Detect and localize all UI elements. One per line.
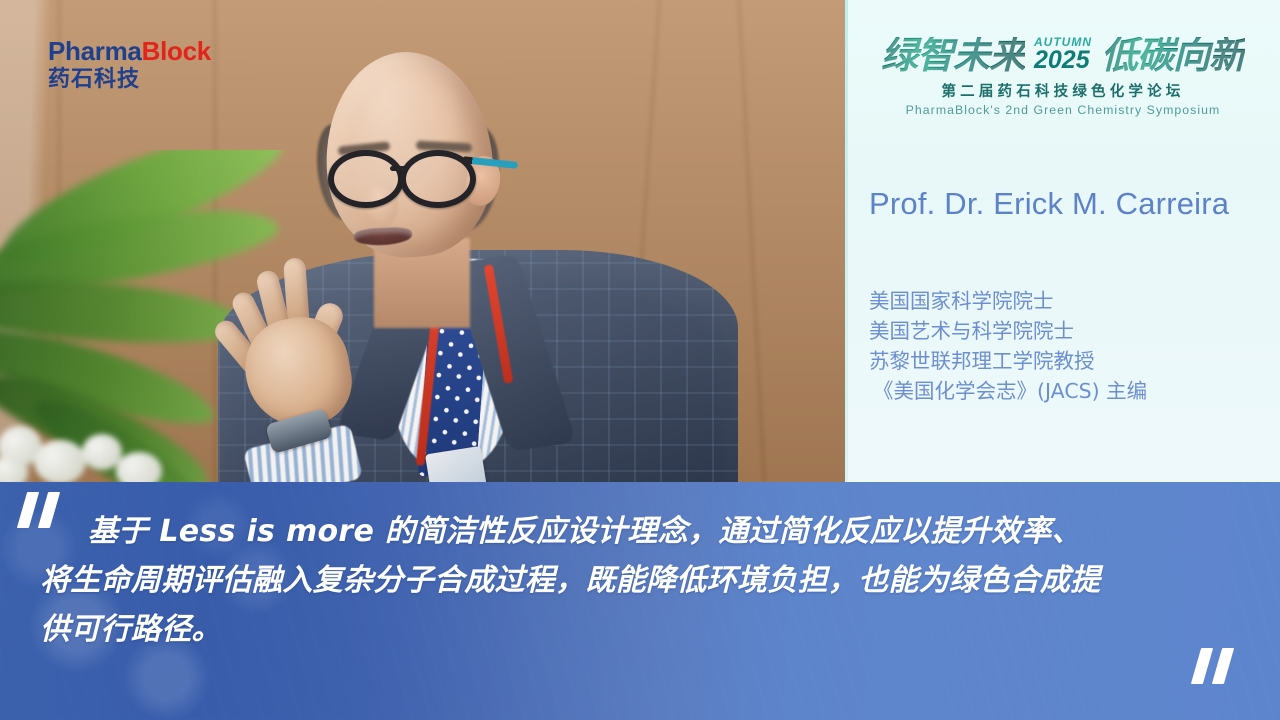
pharmablock-logo: PharmaBlock 药石科技	[48, 38, 211, 91]
quote-line: 基于 Less is more 的简洁性反应设计理念，通过简化反应以提升效率、	[88, 508, 1228, 557]
glasses-bridge	[390, 166, 406, 171]
quote-text: 基于 Less is more 的简洁性反应设计理念，通过简化反应以提升效率、 …	[88, 508, 1228, 655]
logo-text-pharma: Pharma	[48, 36, 142, 66]
quote-open-icon	[22, 492, 66, 528]
event-subtitle-cn: 第二届药石科技绿色化学论坛	[863, 80, 1263, 101]
speaker-credentials: 美国国家科学院院士 美国艺术与科学院院士 苏黎世联邦理工学院教授 《美国化学会志…	[869, 286, 1269, 407]
speaker-info-panel: 绿智未来 AUTUMN 2025 低碳向新 第二届药石科技绿色化学论坛 Phar…	[845, 0, 1280, 482]
event-subtitle-en: PharmaBlock's 2nd Green Chemistry Sympos…	[863, 103, 1263, 117]
credential-item: 美国艺术与科学院院士	[869, 316, 1269, 346]
credential-item: 苏黎世联邦理工学院教授	[869, 346, 1269, 376]
event-logo-date: AUTUMN 2025	[1031, 36, 1095, 74]
logo-text-cn: 药石科技	[48, 69, 211, 91]
event-title-right: 低碳向新	[1101, 37, 1245, 74]
event-logo: 绿智未来 AUTUMN 2025 低碳向新 第二届药石科技绿色化学论坛 Phar…	[863, 36, 1263, 117]
panel-left-edge	[845, 0, 848, 482]
credential-item: 美国国家科学院院士	[869, 286, 1269, 316]
logo-text-block: Block	[142, 36, 211, 66]
speaker-figure	[178, 52, 738, 482]
event-logo-main: 绿智未来 AUTUMN 2025 低碳向新	[863, 36, 1263, 74]
eyeglasses	[328, 150, 506, 196]
speaker-name: Prof. Dr. Erick M. Carreira	[869, 186, 1269, 222]
credential-item: 《美国化学会志》(JACS) 主编	[869, 376, 1269, 406]
presentation-slide: PharmaBlock 药石科技 绿智未来 AUTUMN 2025 低碳向新 第…	[0, 0, 1280, 720]
quote-line: 供可行路径。	[40, 606, 1228, 655]
event-year: 2025	[1034, 49, 1092, 72]
raised-hand	[230, 260, 370, 430]
event-title-left: 绿智未来	[881, 37, 1025, 74]
glasses-lens	[328, 150, 404, 208]
quote-line: 将生命周期评估融入复杂分子合成过程，既能降低环境负担，也能为绿色合成提	[40, 557, 1228, 606]
